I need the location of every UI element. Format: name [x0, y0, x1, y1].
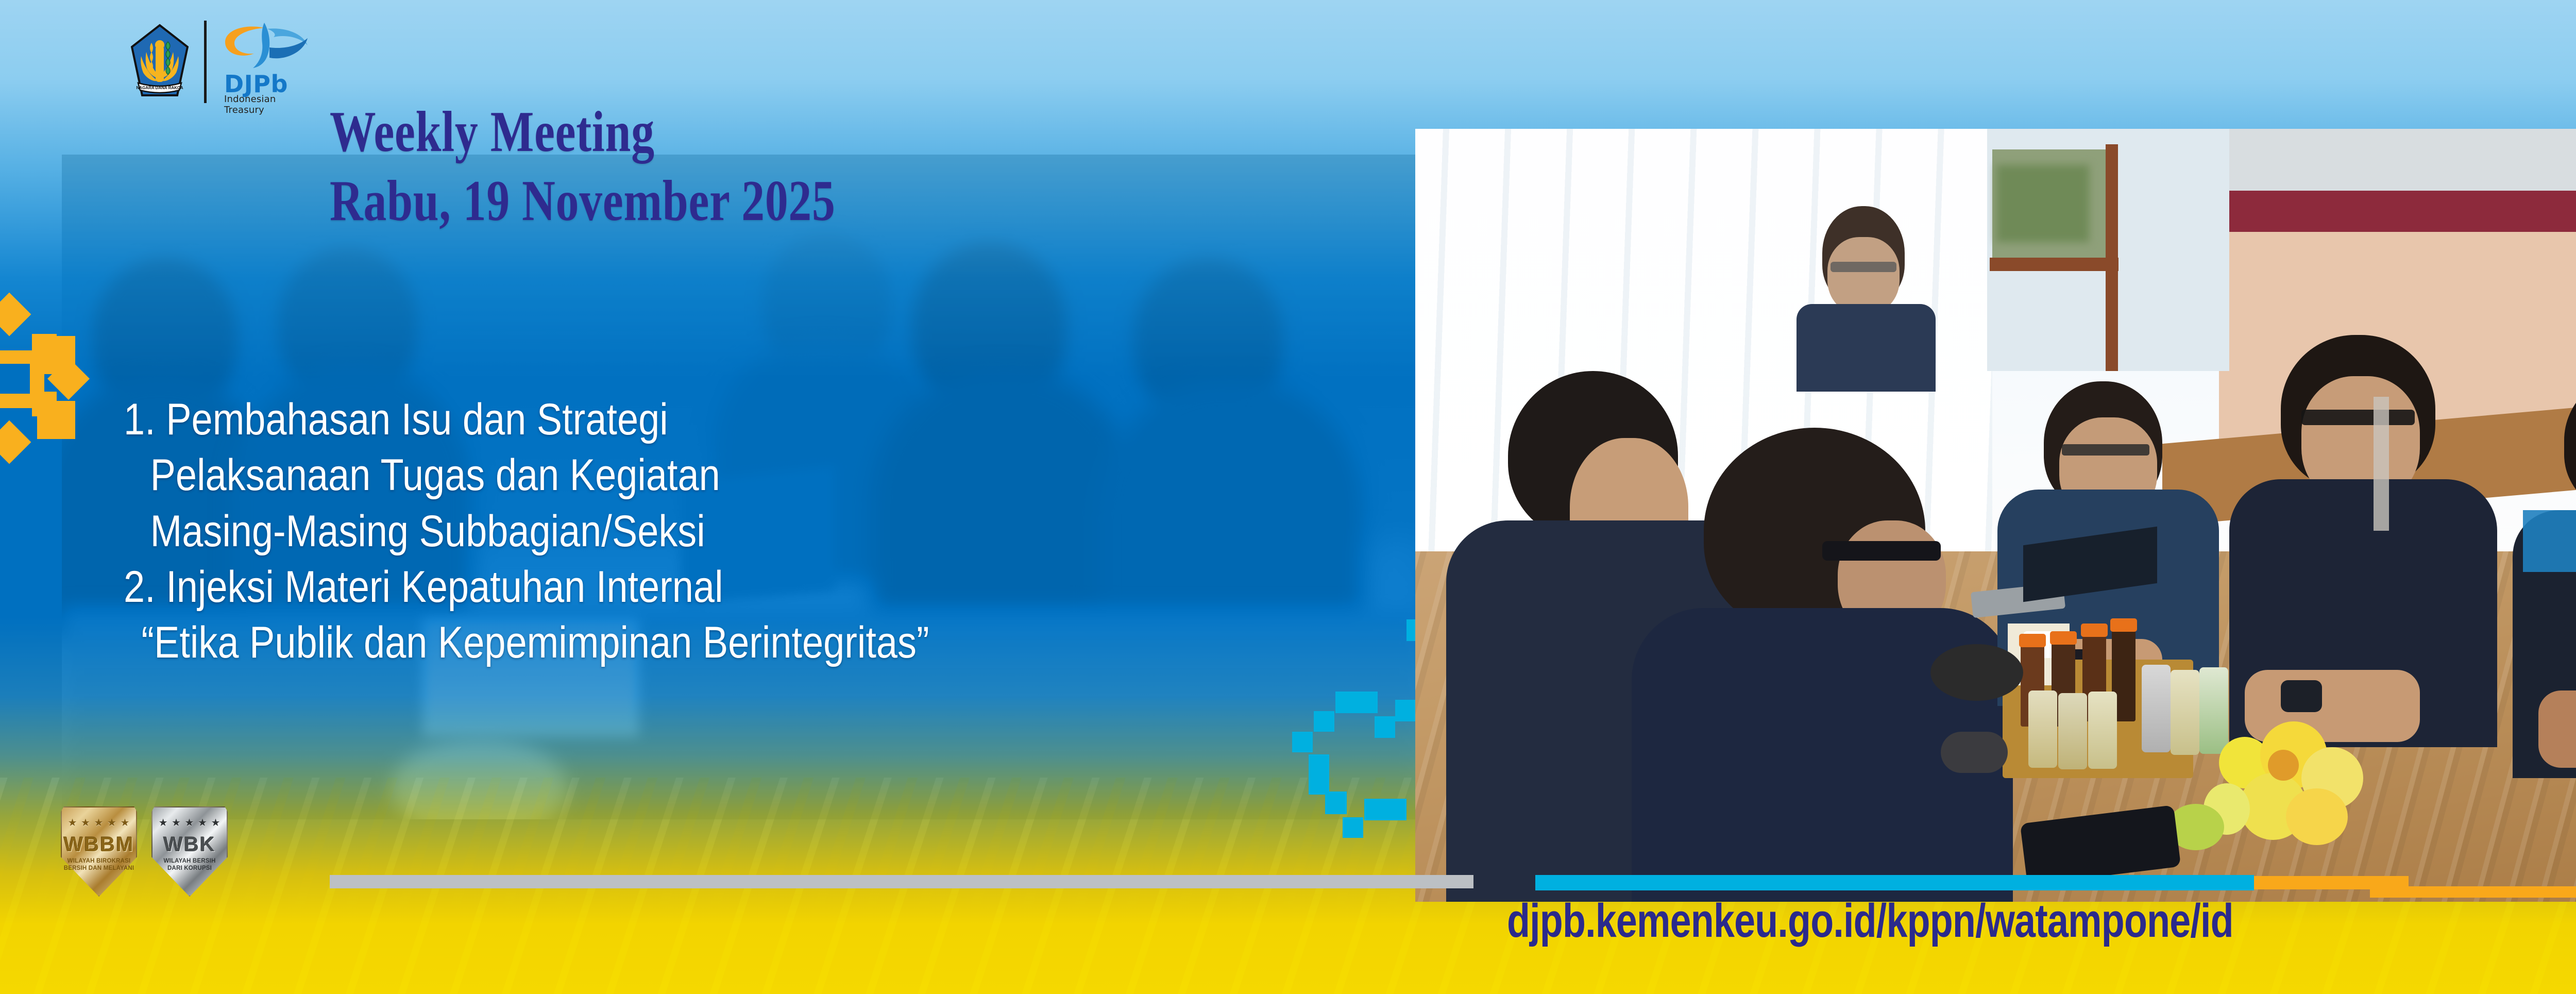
agenda-item-2-cont: “Etika Publik dan Kepemimpinan Berintegr… — [124, 615, 1196, 670]
banner-canvas: NAGARA DANA RAKCA DJPb Indonesian Treasu… — [0, 0, 2576, 994]
djpb-logo: DJPb Indonesian Treasury — [220, 21, 318, 103]
wbk-caption-line1: WILAYAH BERSIH — [151, 858, 228, 865]
wbk-caption-line2: DARI KORUPSI — [151, 865, 228, 872]
gray-rule — [330, 875, 1473, 888]
agenda-item-1-cont-b: Masing-Masing Subbagian/Seksi — [124, 503, 1196, 559]
wbbm-caption-line2: BERSIH DAN MELAYANI — [61, 865, 137, 872]
cyan-rule — [1535, 875, 2254, 890]
title-line-2: Rabu, 19 November 2025 — [330, 172, 836, 230]
djpb-tagline: Indonesian Treasury — [224, 94, 318, 115]
kemenkeu-motto: NAGARA DANA RAKCA — [137, 86, 183, 90]
wbk-abbr: WBK — [151, 833, 228, 856]
meeting-photo — [1415, 129, 2576, 902]
agenda-list: 1. Pembahasan Isu dan Strategi Pelaksana… — [124, 392, 1370, 671]
orange-rule-secondary — [2370, 886, 2576, 898]
wbbm-caption: WILAYAH BIROKRASI BERSIH DAN MELAYANI — [61, 858, 137, 872]
integrity-badges: ★ ★ ★ ★ ★ WBBM WILAYAH BIROKRASI BERSIH … — [61, 806, 228, 897]
orange-pixel-star-left — [0, 289, 109, 469]
agenda-item-2: 2. Injeksi Materi Kepatuhan Internal — [124, 559, 1196, 615]
kemenkeu-emblem-icon: NAGARA DANA RAKCA — [129, 23, 191, 100]
agenda-item-1-cont-a: Pelaksanaan Tugas dan Kegiatan — [124, 447, 1196, 503]
title-line-1: Weekly Meeting — [330, 103, 836, 161]
wbbm-caption-line1: WILAYAH BIROKRASI — [61, 858, 137, 865]
agenda-item-1: 1. Pembahasan Isu dan Strategi — [124, 392, 1196, 447]
logo-divider — [204, 21, 207, 103]
djpb-swoosh-icon — [220, 21, 318, 72]
website-url[interactable]: djpb.kemenkeu.go.id/kppn/watampone/id — [1507, 894, 2233, 948]
header-logo-group: NAGARA DANA RAKCA DJPb Indonesian Treasu… — [129, 15, 318, 108]
wbk-stars-icon: ★ ★ ★ ★ ★ — [151, 818, 228, 828]
wbk-caption: WILAYAH BERSIH DARI KORUPSI — [151, 858, 228, 872]
wbbm-stars-icon: ★ ★ ★ ★ ★ — [61, 818, 137, 828]
wbbm-badge: ★ ★ ★ ★ ★ WBBM WILAYAH BIROKRASI BERSIH … — [61, 806, 137, 897]
wbk-badge: ★ ★ ★ ★ ★ WBK WILAYAH BERSIH DARI KORUPS… — [151, 806, 228, 897]
banner-title: Weekly Meeting Rabu, 19 November 2025 — [330, 103, 962, 230]
wbbm-abbr: WBBM — [61, 833, 137, 856]
